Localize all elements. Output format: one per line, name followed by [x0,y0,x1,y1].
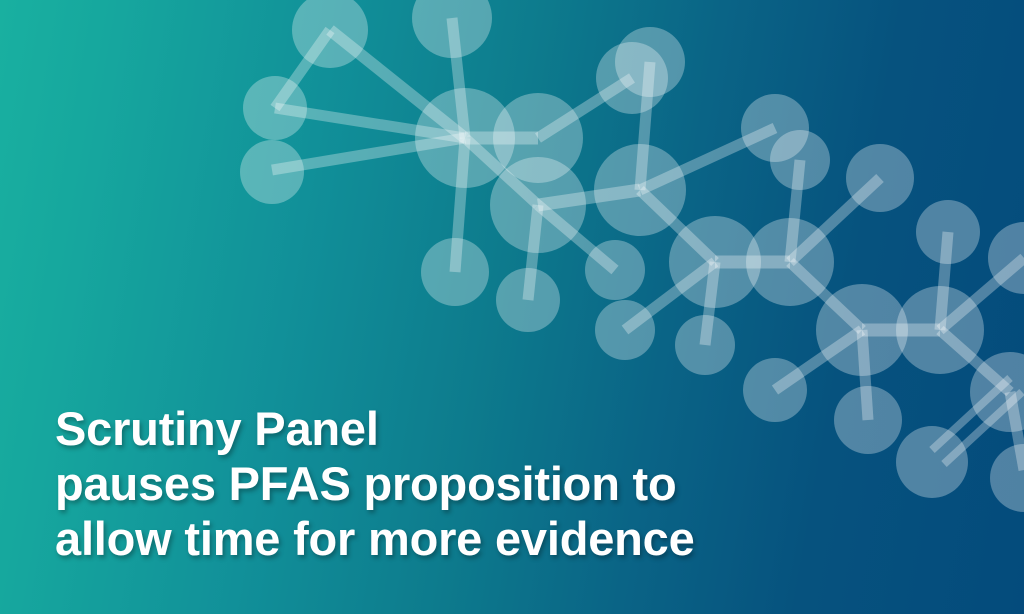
pfas-news-banner: Scrutiny Panel pauses PFAS proposition t… [0,0,1024,614]
headline-line-2: pauses PFAS proposition to [55,456,695,511]
headline: Scrutiny Panel pauses PFAS proposition t… [55,401,695,566]
headline-line-1: Scrutiny Panel [55,401,695,456]
headline-line-3: allow time for more evidence [55,511,695,566]
